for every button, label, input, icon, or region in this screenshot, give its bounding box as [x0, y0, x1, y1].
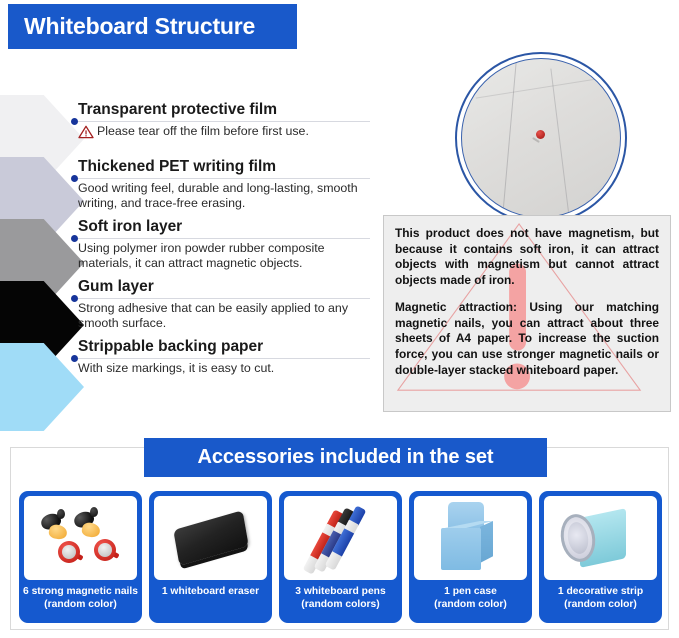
layer-description-row: Please tear off the film before first us…: [78, 124, 370, 143]
accessory-label-line2: (random colors): [301, 599, 379, 610]
magnetic-nails-icon: [24, 496, 137, 580]
accessory-label-line2: (random color): [434, 599, 507, 610]
layer-title: Soft iron layer: [78, 217, 378, 237]
layer-title: Transparent protective film: [78, 100, 378, 120]
magnetic-pin-icon: [536, 130, 545, 139]
layer-item-gum: Gum layer Strong adhesive that can be ea…: [78, 277, 378, 331]
bullet-dot-icon: [71, 118, 78, 125]
page-title-banner: Whiteboard Structure: [8, 4, 297, 49]
magnetism-info-box: This product does not have magnetism, bu…: [383, 215, 671, 412]
accessory-thumbnail: [154, 496, 267, 580]
accessories-title: Accessories included in the set: [198, 446, 494, 469]
layer-item-soft-iron: Soft iron layer Using polymer iron powde…: [78, 217, 378, 271]
layer-title: Strippable backing paper: [78, 337, 378, 357]
bullet-dot-icon: [71, 295, 78, 302]
whiteboard-product-infographic: Whiteboard Structure Transparent protect…: [0, 0, 679, 638]
whiteboard-eraser-icon: [173, 510, 248, 565]
bullet-dot-icon: [71, 235, 78, 242]
layer-item-transparent-film: Transparent protective film Please tear …: [78, 100, 378, 143]
layer-divider: [78, 358, 370, 359]
bullet-dot-icon: [71, 355, 78, 362]
whiteboard-photo: [461, 58, 621, 218]
accessory-thumbnail: [24, 496, 137, 580]
accessory-label-line1: 6 strong magnetic nails: [23, 586, 138, 597]
layer-description-text: Strong adhesive that can be easily appli…: [78, 301, 370, 331]
accessory-thumbnail: [284, 496, 397, 580]
accessory-label: 6 strong magnetic nails (random color): [21, 586, 141, 611]
info-paragraph-2: Magnetic attraction: Using our matching …: [395, 300, 659, 379]
layer-title: Thickened PET writing film: [78, 157, 378, 177]
accessory-card-whiteboard-eraser[interactable]: 1 whiteboard eraser: [149, 491, 272, 623]
layer-description-text: With size markings, it is easy to cut.: [78, 361, 370, 376]
photo-crease: [550, 69, 570, 218]
accessory-label: 1 pen case (random color): [411, 586, 531, 611]
whiteboard-pens-icon: [284, 496, 397, 580]
accessory-label: 3 whiteboard pens (random colors): [281, 586, 401, 611]
accessory-label-line2: (random color): [44, 599, 117, 610]
layer-item-backing-paper: Strippable backing paper With size marki…: [78, 337, 378, 376]
whiteboard-photo-circle: [455, 52, 627, 224]
layer-description-text: Using polymer iron powder rubber composi…: [78, 241, 370, 271]
accessories-card-list: 6 strong magnetic nails (random color) 1…: [19, 491, 662, 623]
accessory-label-line1: 1 decorative strip: [558, 586, 643, 597]
photo-crease: [502, 58, 518, 218]
accessory-card-decorative-strip[interactable]: 1 decorative strip (random color): [539, 491, 662, 623]
accessory-label-line1: 1 whiteboard eraser: [162, 586, 259, 597]
layer-divider: [78, 238, 370, 239]
layer-description-list: Transparent protective film Please tear …: [78, 100, 378, 380]
accessories-banner: Accessories included in the set: [144, 438, 547, 477]
warning-triangle-icon: [78, 125, 94, 143]
layer-divider: [78, 298, 370, 299]
accessory-card-pen-case[interactable]: 1 pen case (random color): [409, 491, 532, 623]
accessory-card-magnetic-nails[interactable]: 6 strong magnetic nails (random color): [19, 491, 142, 623]
accessory-label: 1 decorative strip (random color): [541, 586, 661, 611]
accessory-label-line2: (random color): [564, 599, 637, 610]
page-title: Whiteboard Structure: [8, 13, 255, 40]
accessory-card-whiteboard-pens[interactable]: 3 whiteboard pens (random colors): [279, 491, 402, 623]
pen-case-icon: [414, 496, 527, 580]
accessory-label: 1 whiteboard eraser: [151, 586, 271, 599]
accessory-thumbnail: [414, 496, 527, 580]
layer-description-text: Please tear off the film before first us…: [97, 124, 309, 139]
layer-item-pet-film: Thickened PET writing film Good writing …: [78, 157, 378, 211]
layer-title: Gum layer: [78, 277, 378, 297]
accessory-label-line1: 1 pen case: [444, 586, 497, 597]
layer-divider: [78, 121, 370, 122]
layer-description-text: Good writing feel, durable and long-last…: [78, 181, 370, 211]
accessory-thumbnail: [544, 496, 657, 580]
layer-divider: [78, 178, 370, 179]
accessory-label-line1: 3 whiteboard pens: [295, 586, 385, 597]
photo-crease: [475, 77, 609, 99]
magnetism-info-text: This product does not have magnetism, bu…: [395, 226, 659, 378]
decorative-tape-icon: [544, 496, 657, 580]
bullet-dot-icon: [71, 175, 78, 182]
info-paragraph-1: This product does not have magnetism, bu…: [395, 226, 659, 289]
